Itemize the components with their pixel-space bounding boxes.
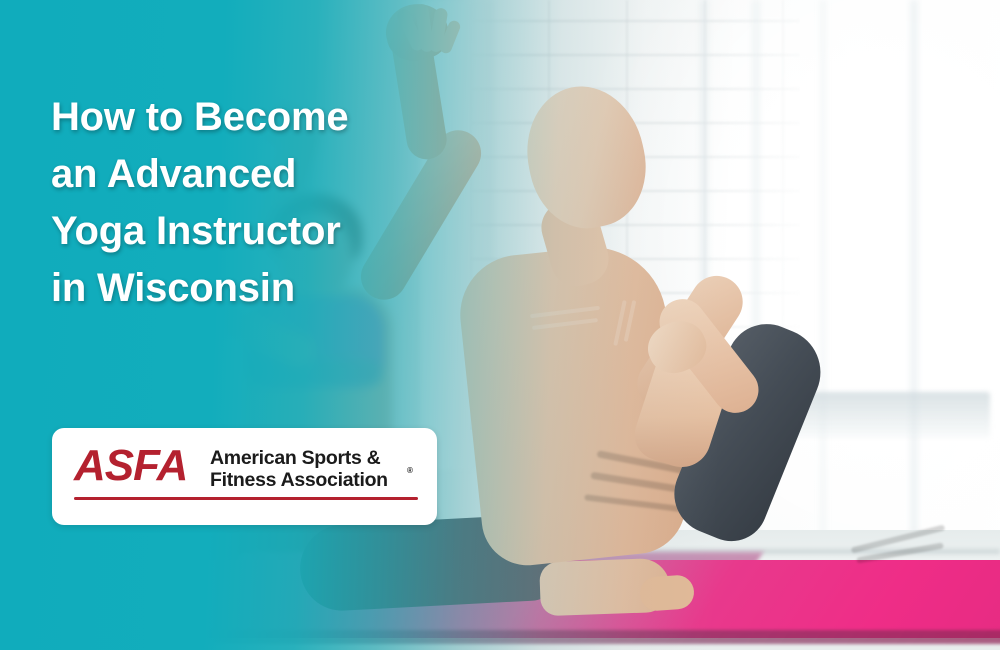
asfa-wordmark: American Sports & Fitness Association [210, 448, 388, 491]
promo-banner: How to Become an Advanced Yoga Instructo… [0, 0, 1000, 650]
asfa-monogram: ASFA [74, 444, 187, 488]
page-title: How to Become an Advanced Yoga Instructo… [51, 89, 471, 317]
logo-underline-rule [74, 497, 418, 500]
asfa-logo: ASFA American Sports & Fitness Associati… [74, 446, 418, 508]
asfa-logo-card[interactable]: ASFA American Sports & Fitness Associati… [52, 428, 437, 525]
registered-trademark-icon: ® [407, 466, 413, 475]
